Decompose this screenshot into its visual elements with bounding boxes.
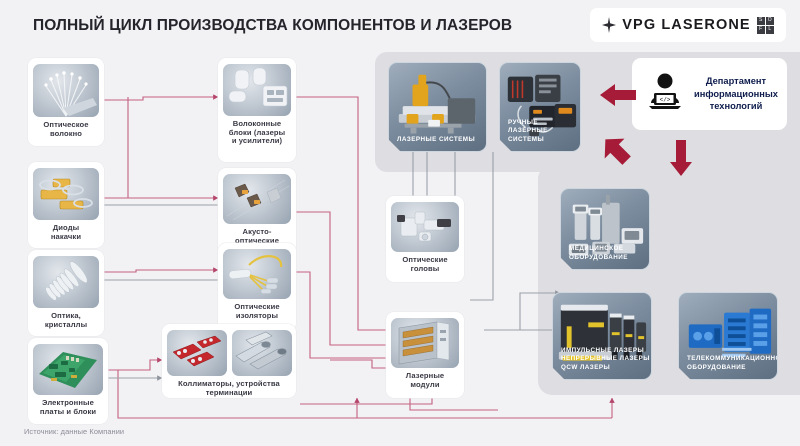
product-label: ЛАЗЕРНЫЕ СИСТЕМЫ: [397, 136, 475, 145]
logo-wordmark: VPG LASERONE: [622, 17, 750, 33]
page-title: ПОЛНЫЙ ЦИКЛ ПРОИЗВОДСТВА КОМПОНЕНТОВ И Л…: [33, 17, 512, 35]
source-note: Источник: данные Компании: [24, 427, 124, 436]
component-card-fiber-blocks[interactable]: Волоконныеблоки (лазерыи усилители): [218, 58, 296, 162]
termination-tubes-image: [232, 330, 292, 376]
it-department-card[interactable]: </> Департаментинформационныхтехнологий: [632, 58, 787, 130]
laser-modules-image: [391, 318, 459, 368]
fiber-blocks-image: [223, 64, 291, 116]
component-label: Электронныеплаты и блоки: [40, 399, 96, 416]
component-label: Оптическоеволокно: [43, 121, 88, 138]
it-department-label: Департаментинформационныхтехнологий: [694, 75, 778, 112]
product-card-medical-equipment[interactable]: МЕДИЦИНСКОЕОБОРУДОВАНИЕ: [560, 188, 650, 270]
component-card-optical-fiber[interactable]: Оптическоеволокно: [28, 58, 104, 146]
company-logo: VPG LASERONE S O F L: [590, 8, 786, 42]
component-card-optical-heads[interactable]: Оптическиеголовы: [386, 196, 464, 282]
product-label: ИМПУЛЬСНЫЕ ЛАЗЕРЫНЕПРЕРЫВНЫЕ ЛАЗЕРЫQCW Л…: [561, 347, 650, 373]
component-label: Волоконныеблоки (лазерыи усилители): [229, 120, 285, 146]
collimator-red-image: [167, 330, 227, 376]
pump-diodes-image: [33, 168, 99, 220]
product-label: РУЧНЫЕЛАЗЕРНЫЕ СИСТЕМЫ: [508, 119, 580, 145]
collimators-images: [167, 330, 292, 376]
component-label: Коллиматоры, устройстватерминации: [178, 380, 280, 397]
component-label: Диодынакачки: [51, 224, 81, 241]
acousto-optic-image: [223, 174, 291, 224]
component-label: Лазерныемодули: [406, 372, 444, 389]
developer-at-laptop-icon: </>: [643, 70, 687, 119]
arrow-down-left-icon: [601, 135, 631, 170]
logo-grid-icon: S O F L: [757, 17, 774, 34]
component-card-electronic-boards[interactable]: Электронныеплаты и блоки: [28, 338, 108, 424]
product-label: ТЕЛЕКОММУНИКАЦИОННОЕОБОРУДОВАНИЕ: [687, 355, 778, 372]
logo-grid-cell: S: [757, 17, 765, 25]
component-label: Оптика,кристаллы: [45, 312, 87, 329]
product-card-laser-systems[interactable]: ЛАЗЕРНЫЕ СИСТЕМЫ: [388, 62, 487, 152]
arrow-left-icon: [600, 84, 636, 111]
optical-fiber-image: [33, 64, 99, 117]
component-card-optical-isolators[interactable]: Оптическиеизоляторы: [218, 243, 296, 331]
product-card-telecom-equipment[interactable]: ТЕЛЕКОММУНИКАЦИОННОЕОБОРУДОВАНИЕ: [678, 292, 778, 380]
product-card-pulsed-lasers[interactable]: ИМПУЛЬСНЫЕ ЛАЗЕРЫНЕПРЕРЫВНЫЕ ЛАЗЕРЫQCW Л…: [552, 292, 652, 380]
svg-text:</>: </>: [660, 96, 671, 103]
star-icon: [602, 17, 616, 33]
logo-grid-cell: O: [766, 17, 774, 25]
optical-heads-image: [391, 202, 459, 252]
component-card-collimators[interactable]: Коллиматоры, устройстватерминации: [162, 324, 296, 398]
component-label: Оптическиеизоляторы: [234, 303, 279, 320]
infographic-root: ПОЛНЫЙ ЦИКЛ ПРОИЗВОДСТВА КОМПОНЕНТОВ И Л…: [0, 0, 800, 446]
optical-isolators-image: [223, 249, 291, 299]
component-card-pump-diodes[interactable]: Диодынакачки: [28, 162, 104, 248]
component-card-laser-modules[interactable]: Лазерныемодули: [386, 312, 464, 398]
component-card-optics-crystals[interactable]: Оптика,кристаллы: [28, 250, 104, 336]
arrow-down-icon: [670, 140, 692, 181]
optics-crystals-image: [33, 256, 99, 308]
electronic-boards-image: [33, 344, 103, 395]
logo-grid-cell: F: [757, 26, 765, 34]
product-label: МЕДИЦИНСКОЕОБОРУДОВАНИЕ: [569, 245, 628, 262]
product-card-handheld-systems[interactable]: РУЧНЫЕЛАЗЕРНЫЕ СИСТЕМЫ: [499, 62, 581, 152]
component-label: Оптическиеголовы: [402, 256, 447, 273]
logo-grid-cell: L: [766, 26, 774, 34]
